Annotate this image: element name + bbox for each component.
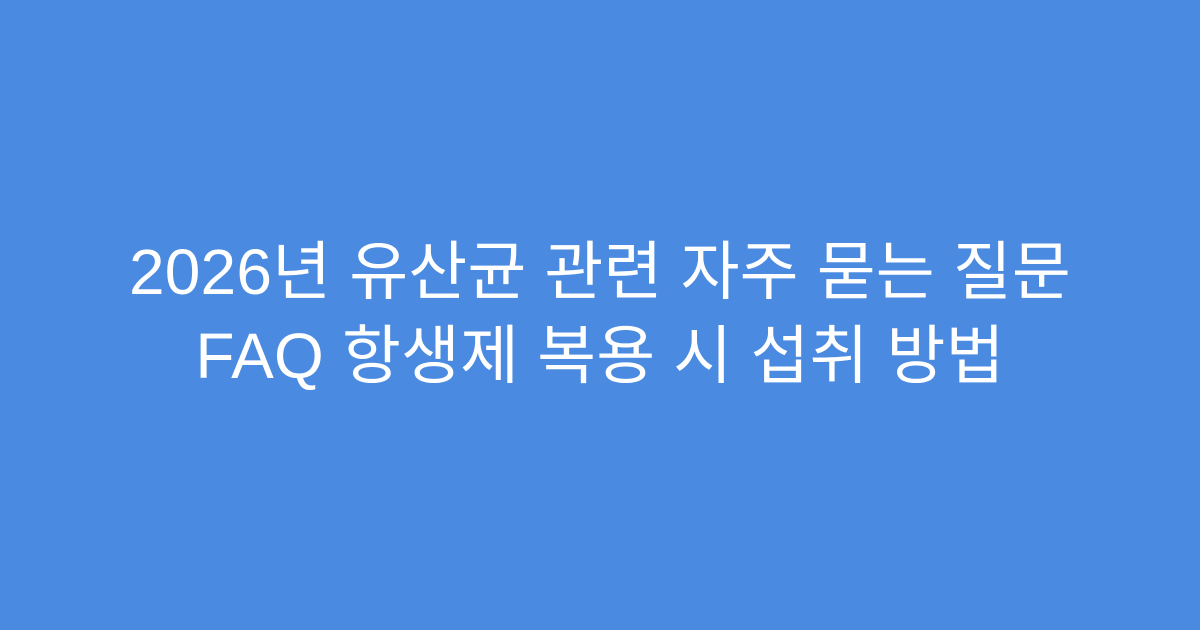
title-line-1: 2026년 유산균 관련 자주 묻는 질문 bbox=[48, 230, 1152, 314]
title-card: 2026년 유산균 관련 자주 묻는 질문 FAQ 항생제 복용 시 섭취 방법 bbox=[0, 0, 1200, 630]
page-title: 2026년 유산균 관련 자주 묻는 질문 FAQ 항생제 복용 시 섭취 방법 bbox=[48, 230, 1152, 398]
title-line-2: FAQ 항생제 복용 시 섭취 방법 bbox=[48, 314, 1152, 398]
